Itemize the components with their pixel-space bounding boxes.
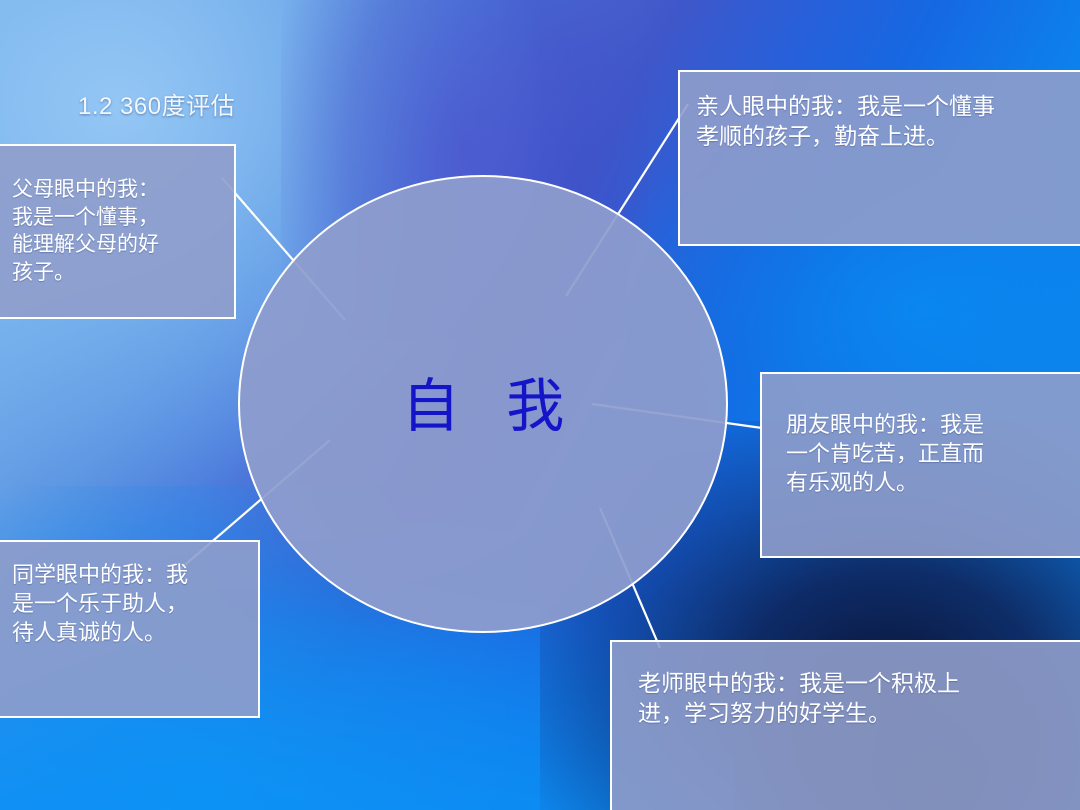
textbox-relatives-text: 亲人眼中的我：我是一个懂事 孝顺的孩子，勤奋上进。 <box>696 92 1068 153</box>
slide-canvas: 1.2 360度评估 自 我 父母眼中的我： 我是一个懂事， 能理解父母的好 孩… <box>0 0 1080 810</box>
textbox-relatives[interactable]: 亲人眼中的我：我是一个懂事 孝顺的孩子，勤奋上进。 <box>678 70 1080 246</box>
textbox-teacher-text: 老师眼中的我：我是一个积极上 进，学习努力的好学生。 <box>638 669 1068 730</box>
self-circle-label: 自 我 <box>238 175 728 633</box>
textbox-parents-text: 父母眼中的我： 我是一个懂事， 能理解父母的好 孩子。 <box>12 176 220 287</box>
textbox-friends[interactable]: 朋友眼中的我：我是 一个肯吃苦，正直而 有乐观的人。 <box>760 372 1080 558</box>
textbox-teacher[interactable]: 老师眼中的我：我是一个积极上 进，学习努力的好学生。 <box>610 640 1080 810</box>
textbox-parents[interactable]: 父母眼中的我： 我是一个懂事， 能理解父母的好 孩子。 <box>0 144 236 319</box>
textbox-classmates[interactable]: 同学眼中的我：我 是一个乐于助人， 待人真诚的人。 <box>0 540 260 718</box>
textbox-classmates-text: 同学眼中的我：我 是一个乐于助人， 待人真诚的人。 <box>12 560 248 647</box>
center-label-text: 自 我 <box>386 359 581 443</box>
page-title: 1.2 360度评估 <box>78 86 235 121</box>
textbox-friends-text: 朋友眼中的我：我是 一个肯吃苦，正直而 有乐观的人。 <box>786 410 1068 497</box>
